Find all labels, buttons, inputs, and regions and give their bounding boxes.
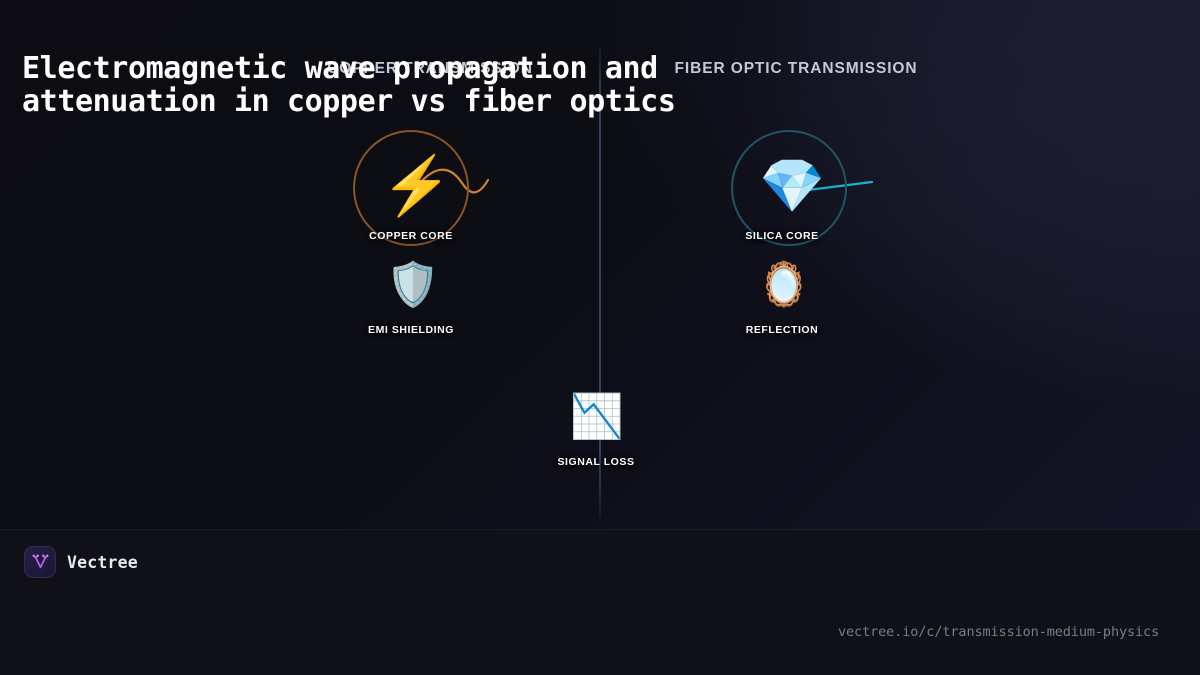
vectree-logo-icon xyxy=(24,546,56,578)
source-url: vectree.io/c/transmission-medium-physics xyxy=(838,624,1159,640)
brand-name: Vectree xyxy=(67,553,138,572)
silica-core-label: SILICA CORE xyxy=(682,230,882,242)
emi-shielding-label: EMI SHIELDING xyxy=(311,324,511,336)
shield-icon: 🛡️ xyxy=(386,264,438,307)
chart-decreasing-icon: 📉 xyxy=(570,396,622,439)
brand-row: Vectree xyxy=(24,546,138,578)
infographic-canvas: COPPER TRANSMISSION FIBER OPTIC TRANSMIS… xyxy=(0,0,1200,675)
gem-stone-icon: 💎 xyxy=(759,160,819,213)
copper-core-label: COPPER CORE xyxy=(311,230,511,242)
page-title: Electromagnetic wave propagation and att… xyxy=(22,53,852,118)
mirror-icon: 🪞 xyxy=(757,264,809,307)
footer-bar: Vectree xyxy=(0,529,1200,675)
signal-loss-label: SIGNAL LOSS xyxy=(496,456,696,468)
reflection-label: REFLECTION xyxy=(682,324,882,336)
high-voltage-icon: ⚡ xyxy=(381,158,441,215)
